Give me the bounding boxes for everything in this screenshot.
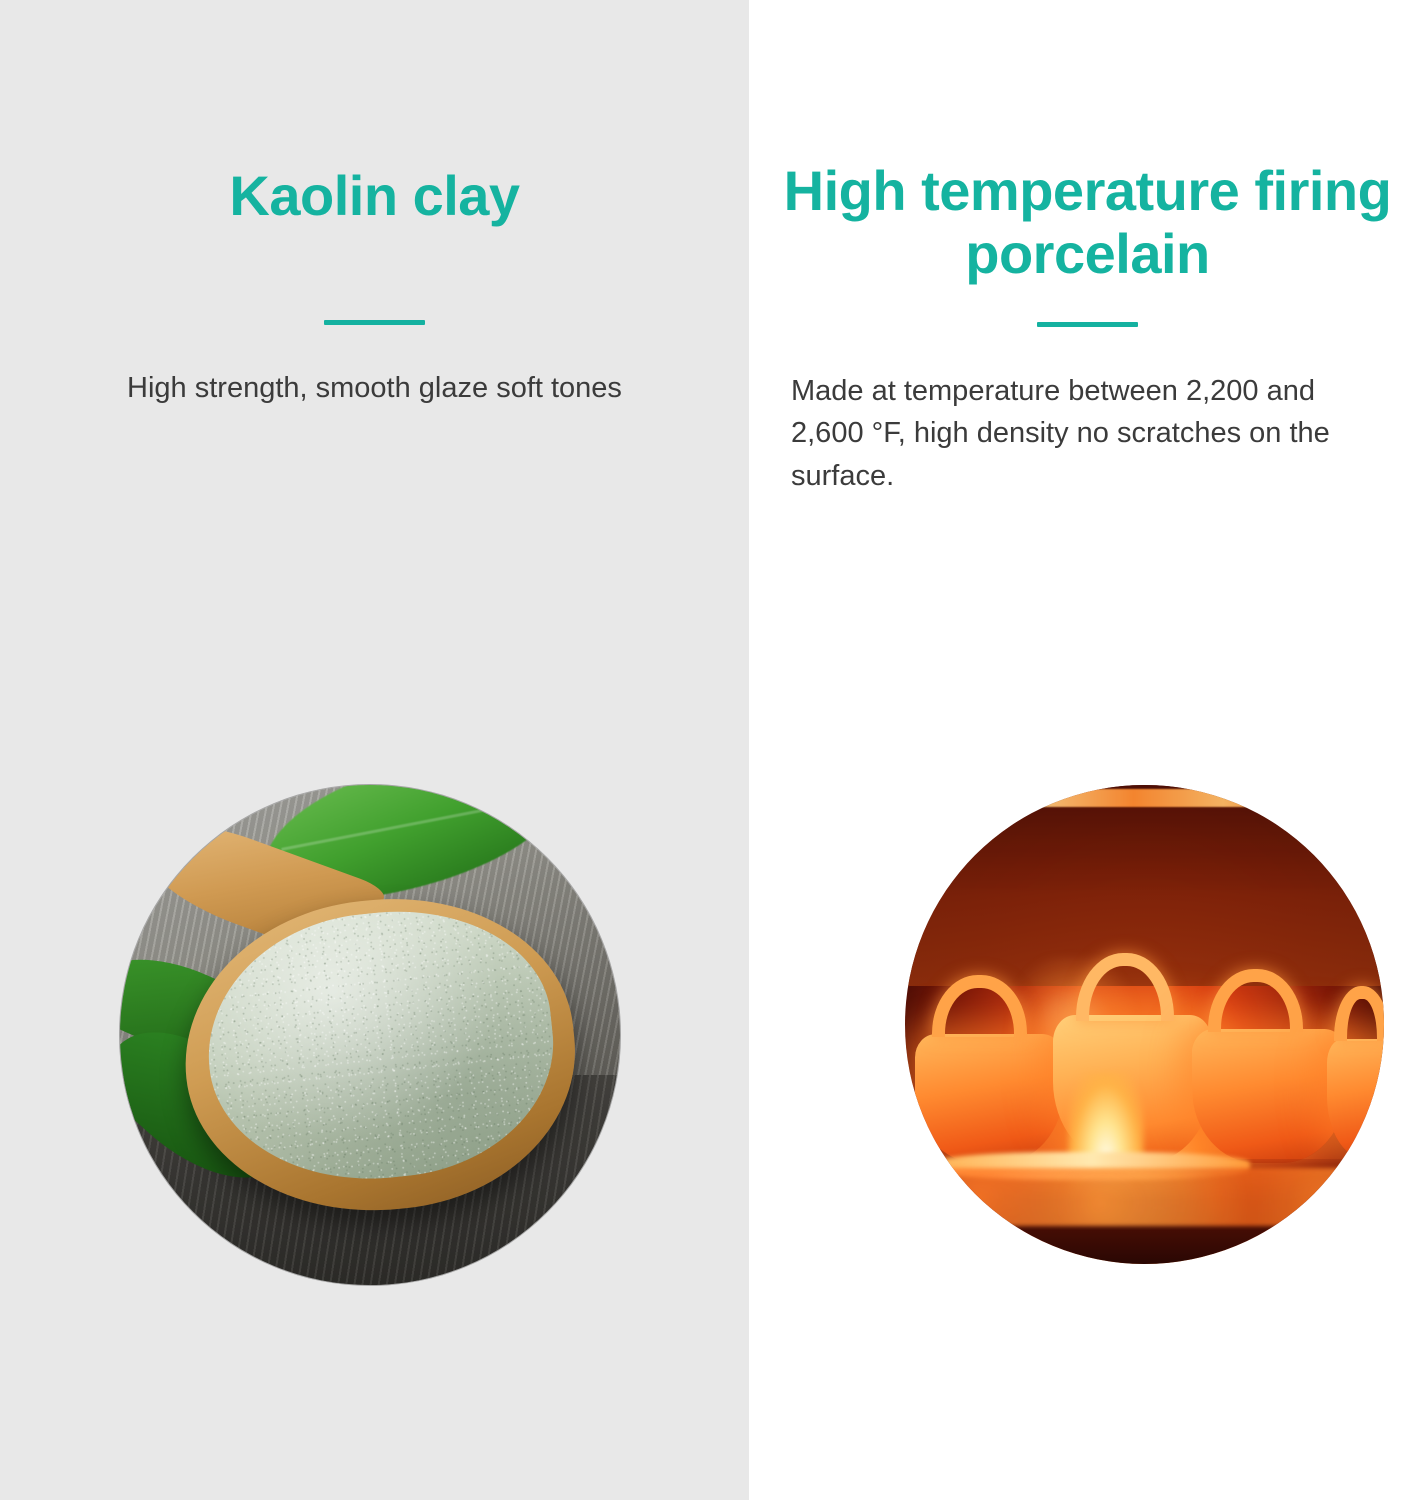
glowing-teapot-3 [1192, 1029, 1345, 1163]
kiln-firing-photo [905, 785, 1384, 1264]
glowing-teapot-1 [915, 1034, 1063, 1163]
feature-infographic: Kaolin clay High strength, smooth glaze … [0, 0, 1426, 1500]
firing-title: High temperature firing porcelain [749, 160, 1426, 285]
kiln-roof [905, 785, 1384, 986]
firing-heading-block: High temperature firing porcelain Made a… [749, 0, 1426, 497]
kaolin-heading-block: Kaolin clay High strength, smooth glaze … [0, 0, 749, 409]
kaolin-title-divider [324, 320, 425, 325]
kiln-firing-photo-inner [905, 785, 1384, 1264]
kaolin-clay-photo [120, 785, 620, 1285]
feature-panel-kaolin-clay: Kaolin clay High strength, smooth glaze … [0, 0, 749, 1500]
firing-description: Made at temperature between 2,200 and 2,… [749, 370, 1426, 496]
kaolin-description: High strength, smooth glaze soft tones [0, 367, 749, 409]
kiln-embers [915, 1168, 1375, 1225]
kaolin-title: Kaolin clay [0, 165, 749, 228]
feature-panel-high-temperature-firing: High temperature firing porcelain Made a… [749, 0, 1426, 1500]
firing-title-divider [1037, 322, 1138, 327]
kaolin-clay-photo-inner [120, 785, 620, 1285]
